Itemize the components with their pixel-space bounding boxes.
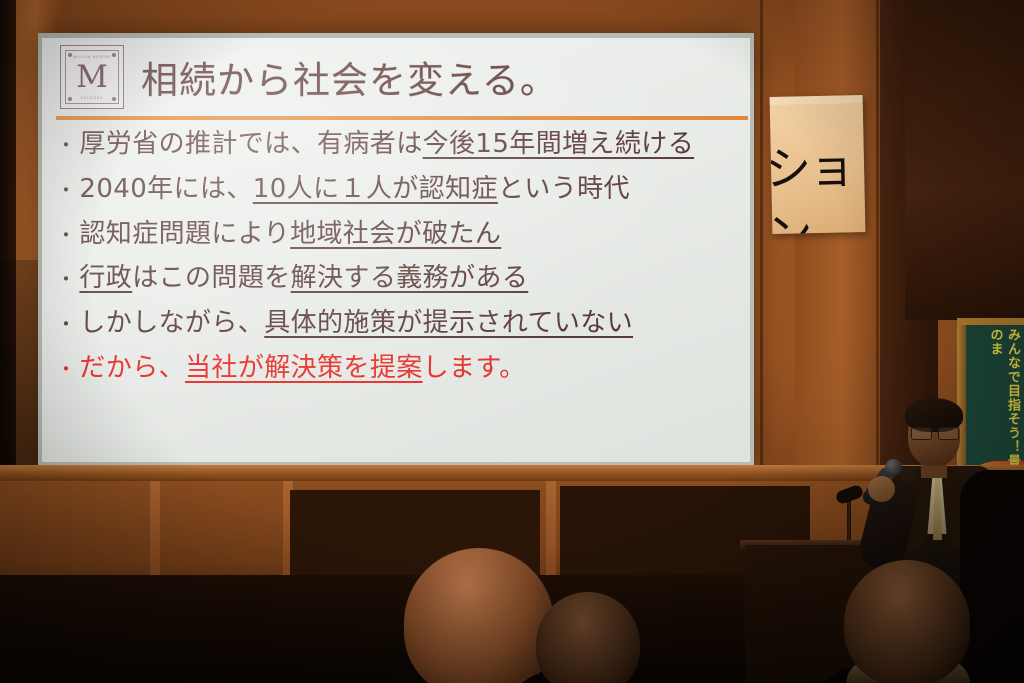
- bullet-5-segment-2: 具体的施策が提示されていない: [264, 310, 633, 338]
- paper-sign-text: ション: [770, 131, 866, 234]
- logo-monogram: M: [76, 62, 108, 93]
- bullet-2-segment-2: 10人に１人が認知症: [253, 176, 498, 204]
- bullet-4-segment-1: 行政: [79, 265, 132, 293]
- paper-sign-tape: [770, 95, 863, 105]
- bullet-1-segment-2: 今後15年間増え続ける: [423, 131, 694, 159]
- paper-sign: ション: [770, 95, 866, 234]
- slide-bullet-list: ・厚労省の推計では、有病者は今後15年間増え続ける・2040年には、10人に１人…: [42, 120, 750, 383]
- slide-bullet-6: ・だから、当社が解決策を提案します。: [56, 355, 750, 383]
- bullet-4-segment-3: 解決する義務がある: [291, 265, 529, 293]
- banner-top-bar: [957, 318, 1024, 325]
- bullet-marker-icon: ・: [56, 180, 76, 200]
- bullet-6-segment-3: します。: [423, 355, 526, 383]
- handheld-microphone-head: [885, 459, 902, 476]
- speaker-glasses-left-lens: [911, 427, 932, 440]
- slide-bullet-2: ・2040年には、10人に１人が認知症という時代: [56, 176, 750, 204]
- presentation-slide: MILLION MEMORY M SOUZOKU 相続から社会を変える。 ・厚労…: [42, 38, 750, 462]
- slide-bullet-5: ・しかしながら、具体的施策が提示されていない: [56, 310, 750, 338]
- bullet-3-segment-2: 地域社会が破たん: [290, 221, 501, 249]
- bullet-marker-icon: ・: [56, 314, 76, 334]
- bullet-6-segment-2: 当社が解決策を提案: [185, 355, 423, 383]
- bullet-4-segment-2: はこの問題を: [132, 265, 290, 293]
- bullet-2-segment-3: という時代: [498, 176, 630, 204]
- bullet-2-segment-1: 2040年には、: [79, 176, 252, 204]
- slide-header: MILLION MEMORY M SOUZOKU 相続から社会を変える。: [42, 38, 750, 116]
- audience-member-4-silhouette: [960, 470, 1024, 683]
- presentation-photo-scene: MILLION MEMORY M SOUZOKU 相続から社会を変える。 ・厚労…: [0, 0, 1024, 683]
- bullet-marker-icon: ・: [56, 225, 76, 245]
- speaker-glasses-right-lens: [938, 427, 959, 440]
- slide-bullet-4: ・行政はこの問題を解決する義務がある: [56, 265, 750, 293]
- bullet-5-segment-1: しかしながら、: [79, 310, 264, 338]
- logo-bottom-text: SOUZOKU: [61, 96, 123, 100]
- bullet-marker-icon: ・: [56, 269, 76, 289]
- bullet-6-segment-1: だから、: [79, 355, 185, 383]
- wall-dark-upper-right: [905, 0, 1024, 320]
- slide-title: 相続から社会を変える。: [141, 50, 558, 104]
- bullet-3-segment-1: 認知症問題により: [79, 221, 290, 249]
- audience-member-3-head: [844, 560, 970, 683]
- bullet-1-segment-1: 厚労省の推計では、有病者は: [79, 131, 422, 159]
- slide-bullet-3: ・認知症問題により地域社会が破たん: [56, 221, 750, 249]
- projection-screen: MILLION MEMORY M SOUZOKU 相続から社会を変える。 ・厚労…: [38, 33, 754, 467]
- bullet-marker-icon: ・: [56, 359, 76, 379]
- wall-trim-rail: [0, 465, 1024, 481]
- bullet-marker-icon: ・: [56, 135, 76, 155]
- slide-bullet-1: ・厚労省の推計では、有病者は今後15年間増え続ける: [56, 131, 750, 159]
- speaker-hand: [868, 476, 895, 502]
- company-logo: MILLION MEMORY M SOUZOKU: [60, 45, 124, 109]
- logo-top-text: MILLION MEMORY: [61, 55, 123, 59]
